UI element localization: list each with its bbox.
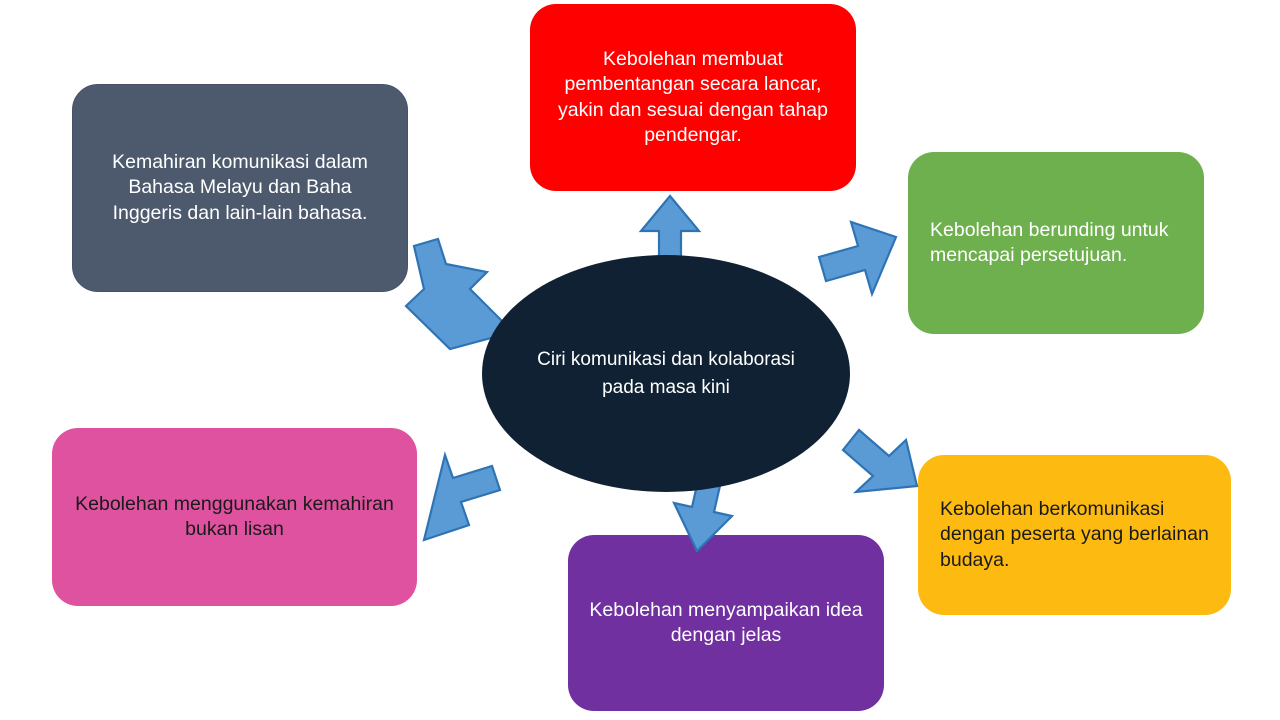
arrow-right-down bbox=[843, 430, 917, 492]
arrow-down-left bbox=[424, 455, 500, 540]
arrow-right-up bbox=[819, 222, 896, 294]
center-node[interactable]: Ciri komunikasi dan kolaborasi pada masa… bbox=[482, 255, 850, 492]
center-node-label: Ciri komunikasi dan kolaborasi pada masa… bbox=[530, 346, 802, 401]
diagram-canvas: Ciri komunikasi dan kolaborasi pada masa… bbox=[0, 0, 1280, 720]
